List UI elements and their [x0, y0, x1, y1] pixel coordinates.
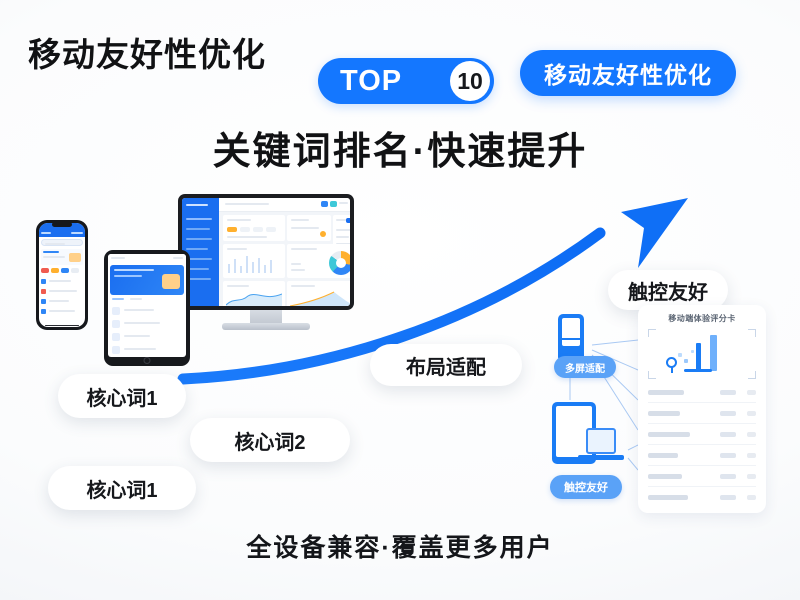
poster-canvas: 移动友好性优化 TOP 10 移动友好性优化 关键词排名·快速提升 — [0, 0, 800, 600]
tablet-device — [104, 250, 190, 366]
scorecard-chart-frame — [648, 329, 756, 379]
keyword-pill-1[interactable]: 核心词1 — [58, 374, 186, 418]
page-title: 移动友好性优化 — [28, 28, 266, 76]
tablet-screen — [108, 254, 186, 357]
mobile-experience-diagram: 多屏适配 触控友好 移动端体验评分卡 — [540, 300, 770, 515]
scorecard-row — [648, 471, 756, 487]
scorecard-row — [648, 429, 756, 445]
dashboard-topbar — [219, 198, 350, 212]
phone-device — [36, 220, 88, 330]
device-mockups — [18, 182, 338, 382]
footer-caption: 全设备兼容·覆盖更多用户 — [0, 528, 800, 564]
top-badge-rank: 10 — [450, 61, 490, 101]
scorecard-row — [648, 408, 756, 424]
layout-adaptation-pill[interactable]: 布局适配 — [370, 344, 522, 386]
phone-screen — [39, 223, 85, 327]
phone-bezel — [36, 220, 88, 330]
monitor-screen — [182, 198, 350, 306]
diagram-touch-pill: 触控友好 — [550, 475, 622, 499]
monitor-base — [222, 323, 310, 330]
page-subtitle: 关键词排名·快速提升 — [0, 120, 800, 175]
tablet-home-button — [144, 357, 151, 364]
top-rank-badge: TOP 10 — [318, 58, 494, 104]
small-phone-icon — [558, 314, 584, 362]
monitor-neck — [250, 310, 282, 324]
keyword-pill-2[interactable]: 核心词2 — [190, 418, 350, 462]
phone-notch — [52, 222, 72, 227]
tablet-bezel — [104, 250, 190, 366]
desktop-monitor — [178, 194, 354, 326]
scorecard-row — [648, 450, 756, 466]
top-badge-label: TOP — [340, 65, 402, 98]
scorecard-row — [648, 492, 756, 508]
laptop-icon — [586, 428, 620, 464]
scorecard-title: 移动端体验评分卡 — [638, 313, 766, 324]
scorecard-row — [648, 387, 756, 403]
scorecard-panel: 移动端体验评分卡 — [638, 305, 766, 513]
header-tag-pill: 移动友好性优化 — [520, 50, 736, 96]
dashboard-body — [219, 212, 350, 306]
multi-screen-pill: 多屏适配 — [554, 356, 616, 378]
keyword-pill-3[interactable]: 核心词1 — [48, 466, 196, 510]
monitor-bezel — [178, 194, 354, 310]
